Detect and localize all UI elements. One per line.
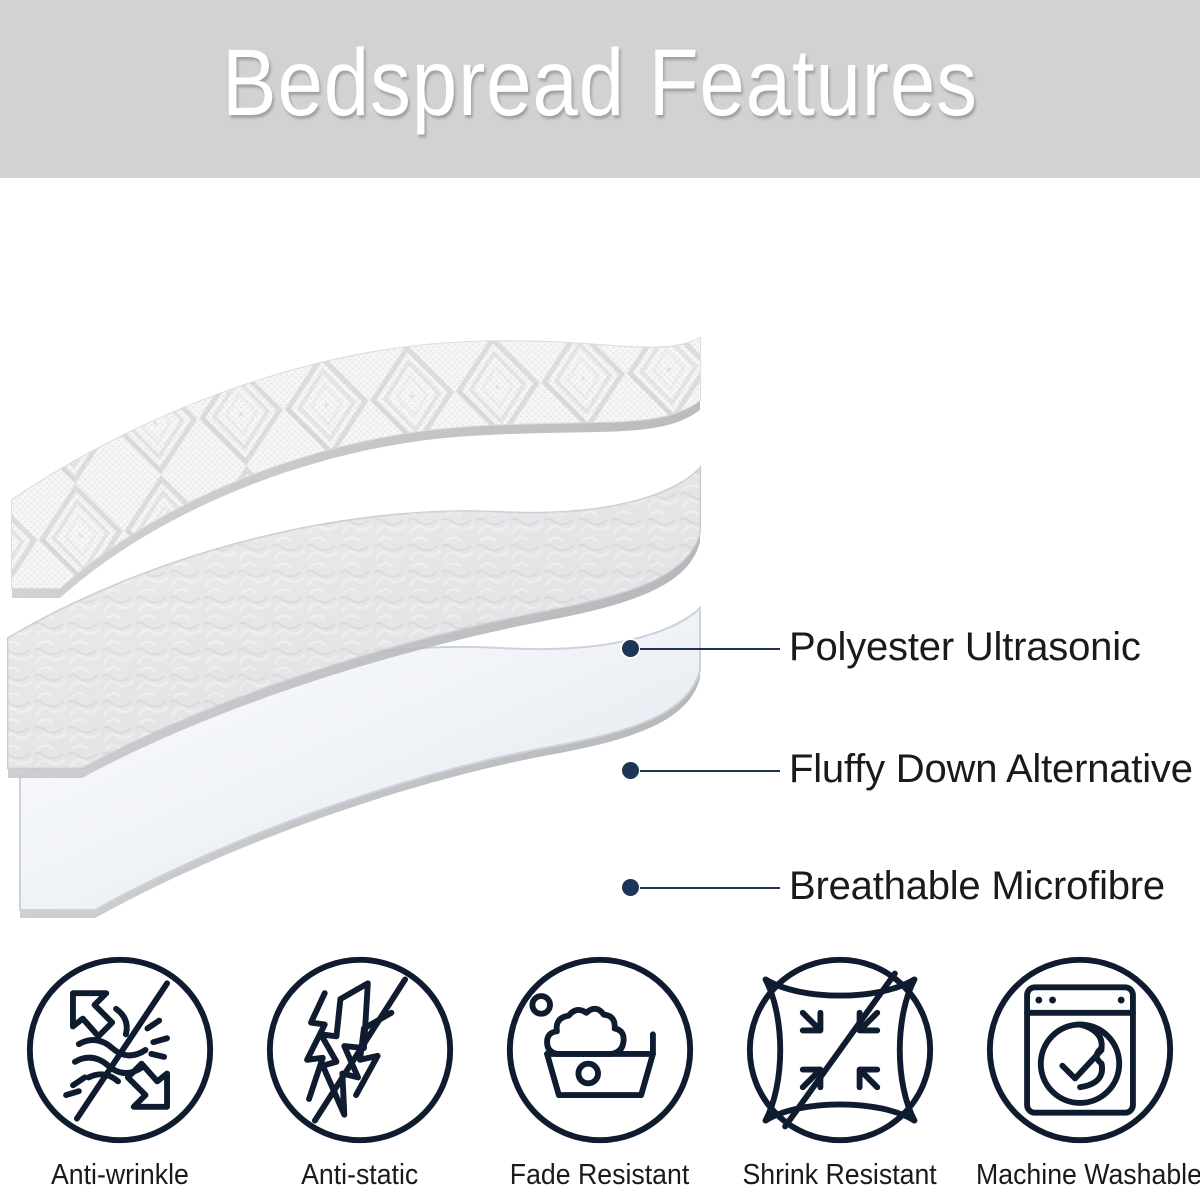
- callout-dot-polyester: [622, 640, 639, 657]
- lightning-bolt-no-icon: [262, 952, 458, 1148]
- callout-leader-fluffy-down: [640, 770, 780, 772]
- feature-label-machine-washable: Machine Washable: [976, 1158, 1200, 1192]
- fabric-layers-svg: [0, 178, 1200, 930]
- feature-machine-washable: Machine Washable: [960, 930, 1200, 1192]
- page-title: Bedspread Features: [84, 30, 1116, 136]
- wash-basin-bubbles-icon: [502, 952, 698, 1148]
- feature-shrink-resistant: Shrink Resistant: [720, 930, 960, 1192]
- feature-label-anti-wrinkle: Anti-wrinkle: [51, 1158, 189, 1192]
- feature-anti-static: Anti-static: [240, 930, 480, 1192]
- callout-dot-microfibre: [622, 879, 639, 896]
- infographic-page: Bedspread Features: [0, 0, 1200, 1200]
- feature-icon-row: Anti-wrinkle Anti-static: [0, 930, 1200, 1200]
- fabric-layers-illustration: Polyester Ultrasonic Fluffy Down Alterna…: [0, 178, 1200, 930]
- feature-label-fade-resistant: Fade Resistant: [510, 1158, 689, 1192]
- feature-label-anti-static: Anti-static: [301, 1158, 418, 1192]
- shrinking-fabric-arrows-no-icon: [742, 952, 938, 1148]
- washing-machine-check-icon: [982, 952, 1178, 1148]
- crumpled-fabric-arrows-no-icon: [22, 952, 218, 1148]
- callout-label-microfibre: Breathable Microfibre: [789, 864, 1165, 908]
- callout-leader-microfibre: [640, 887, 780, 889]
- callout-label-polyester: Polyester Ultrasonic: [789, 625, 1141, 669]
- feature-label-shrink-resistant: Shrink Resistant: [743, 1158, 937, 1192]
- callout-leader-polyester: [640, 648, 780, 650]
- feature-fade-resistant: Fade Resistant: [480, 930, 720, 1192]
- feature-anti-wrinkle: Anti-wrinkle: [0, 930, 240, 1192]
- callout-label-fluffy-down: Fluffy Down Alternative: [789, 747, 1193, 791]
- callout-dot-fluffy-down: [622, 762, 639, 779]
- header-banner: Bedspread Features: [0, 0, 1200, 178]
